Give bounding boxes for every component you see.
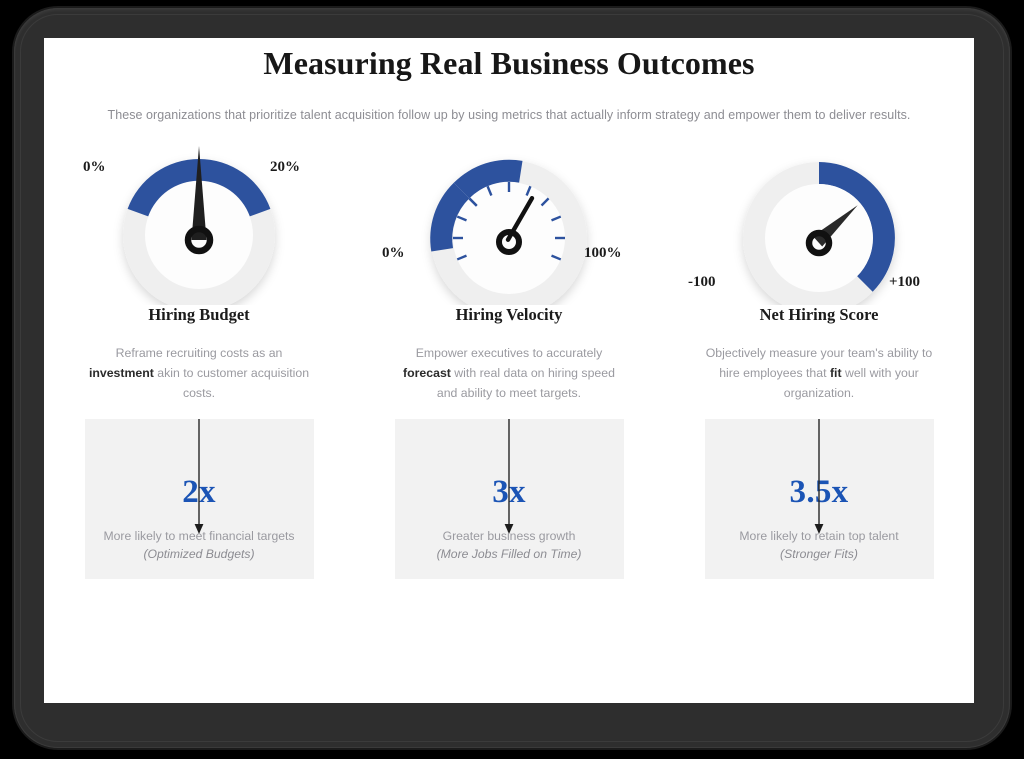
gauge-max-label: 100% xyxy=(584,245,622,261)
desc-pre: Reframe recruiting costs as an xyxy=(116,346,283,360)
metric-column-net-hiring-score: -100 +100 Net Hiring Score Objectively m… xyxy=(664,130,974,579)
gauge-hiring-budget: 0% 20% xyxy=(56,130,342,305)
gauge-min-label: 0% xyxy=(382,245,405,261)
metric-column-hiring-velocity: 0% 100% Hiring Velocity Empower executiv… xyxy=(354,130,664,579)
desc-pre: Empower executives to accurately xyxy=(416,346,603,360)
card-description-hiring-velocity: Empower executives to accurately forecas… xyxy=(394,325,624,403)
desc-post: with real data on hiring speed and abili… xyxy=(437,366,615,400)
gauge-max-label: 20% xyxy=(270,159,300,175)
desc-emphasis: fit xyxy=(830,366,842,380)
metric-column-hiring-budget: 0% 20% Hiring Budget Reframe recruiting … xyxy=(44,130,354,579)
result-subtext: (Stronger Fits) xyxy=(780,546,858,564)
gauge-max-label: +100 xyxy=(889,274,920,290)
gauge-min-label: 0% xyxy=(83,159,106,175)
desc-emphasis: forecast xyxy=(403,366,451,380)
connector-arrow-net-hiring-score xyxy=(812,419,826,535)
gauge-net-hiring-score: -100 +100 xyxy=(676,130,962,305)
tablet-device-frame: Measuring Real Business Outcomes These o… xyxy=(14,8,1010,748)
card-title-hiring-velocity: Hiring Velocity xyxy=(456,305,563,325)
card-title-hiring-budget: Hiring Budget xyxy=(148,305,249,325)
gauge-min-label: -100 xyxy=(688,274,716,290)
connector-arrow-hiring-velocity xyxy=(502,419,516,535)
page-subtitle: These organizations that prioritize tale… xyxy=(44,82,974,122)
card-title-net-hiring-score: Net Hiring Score xyxy=(760,305,879,325)
card-description-net-hiring-score: Objectively measure your team's ability … xyxy=(704,325,934,403)
desc-post: akin to customer acquisition costs. xyxy=(154,366,309,400)
desc-emphasis: investment xyxy=(89,366,154,380)
page-title: Measuring Real Business Outcomes xyxy=(44,38,974,82)
screen-content-area: Measuring Real Business Outcomes These o… xyxy=(44,38,974,703)
connector-arrow-hiring-budget xyxy=(192,419,206,535)
card-description-hiring-budget: Reframe recruiting costs as an investmen… xyxy=(84,325,314,403)
result-subtext: (Optimized Budgets) xyxy=(143,546,254,564)
result-subtext: (More Jobs Filled on Time) xyxy=(437,546,582,564)
gauge-hiring-velocity: 0% 100% xyxy=(366,130,652,305)
metrics-columns: 0% 20% Hiring Budget Reframe recruiting … xyxy=(44,130,974,579)
